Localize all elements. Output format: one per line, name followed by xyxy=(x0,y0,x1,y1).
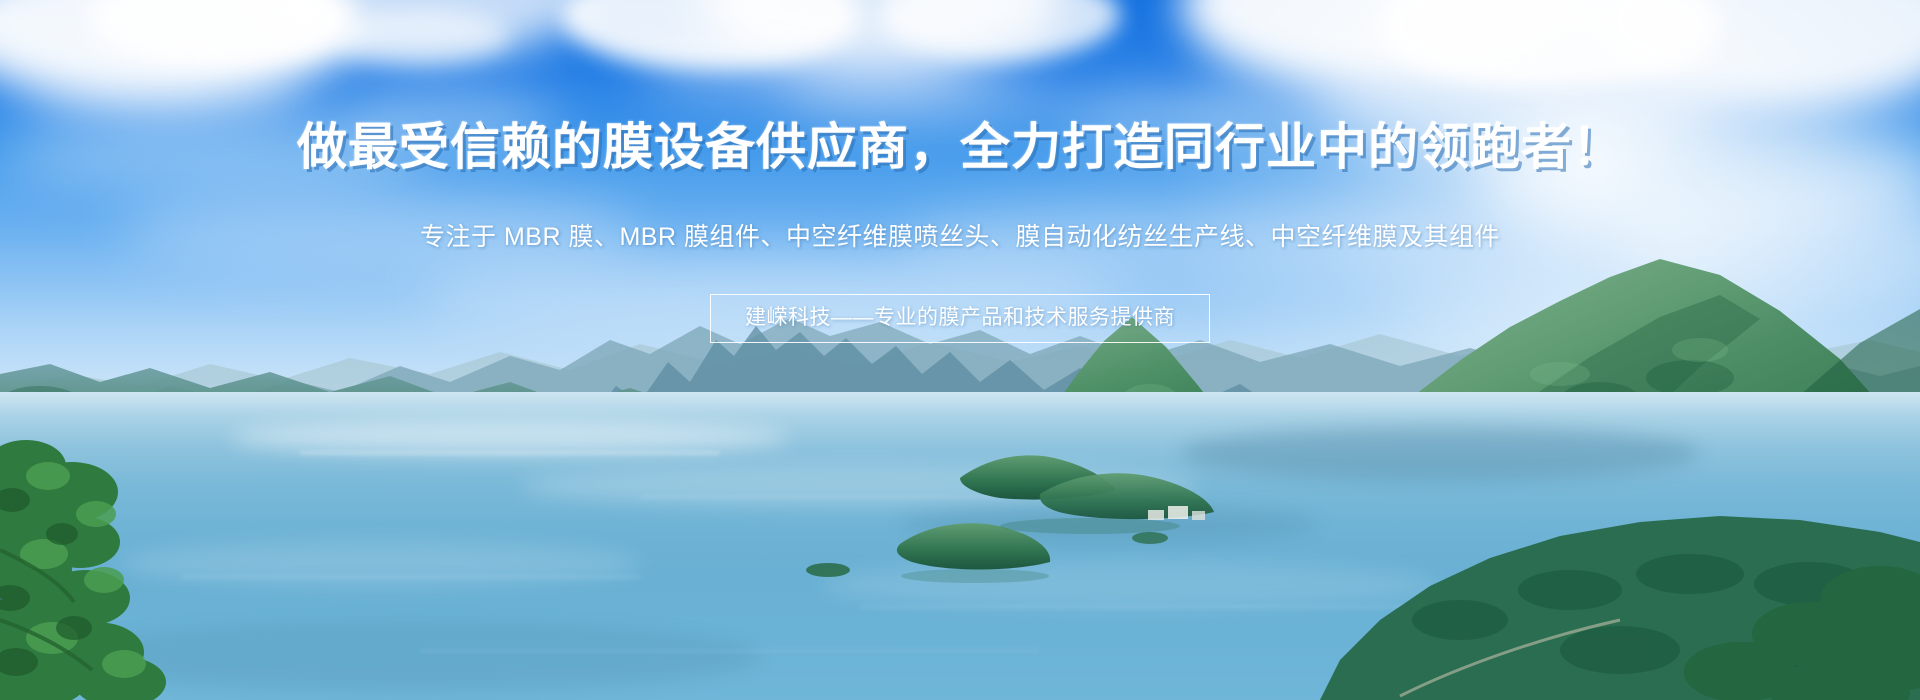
tagline-box: 建嵘科技——专业的膜产品和技术服务提供商 xyxy=(710,294,1210,343)
foreground-foliage-right xyxy=(0,560,1920,700)
banner-subtitle: 专注于 MBR 膜、MBR 膜组件、中空纤维膜喷丝头、膜自动化纺丝生产线、中空纤… xyxy=(0,220,1920,254)
hero-banner: 做最受信赖的膜设备供应商，全力打造同行业中的领跑者！ 专注于 MBR 膜、MBR… xyxy=(0,0,1920,700)
page-title: 做最受信赖的膜设备供应商，全力打造同行业中的领跑者！ xyxy=(0,118,1920,176)
cloud xyxy=(330,10,510,62)
tagline-wrapper: 建嵘科技——专业的膜产品和技术服务提供商 xyxy=(0,294,1920,343)
cloud xyxy=(780,70,1060,120)
cloud xyxy=(20,60,320,120)
